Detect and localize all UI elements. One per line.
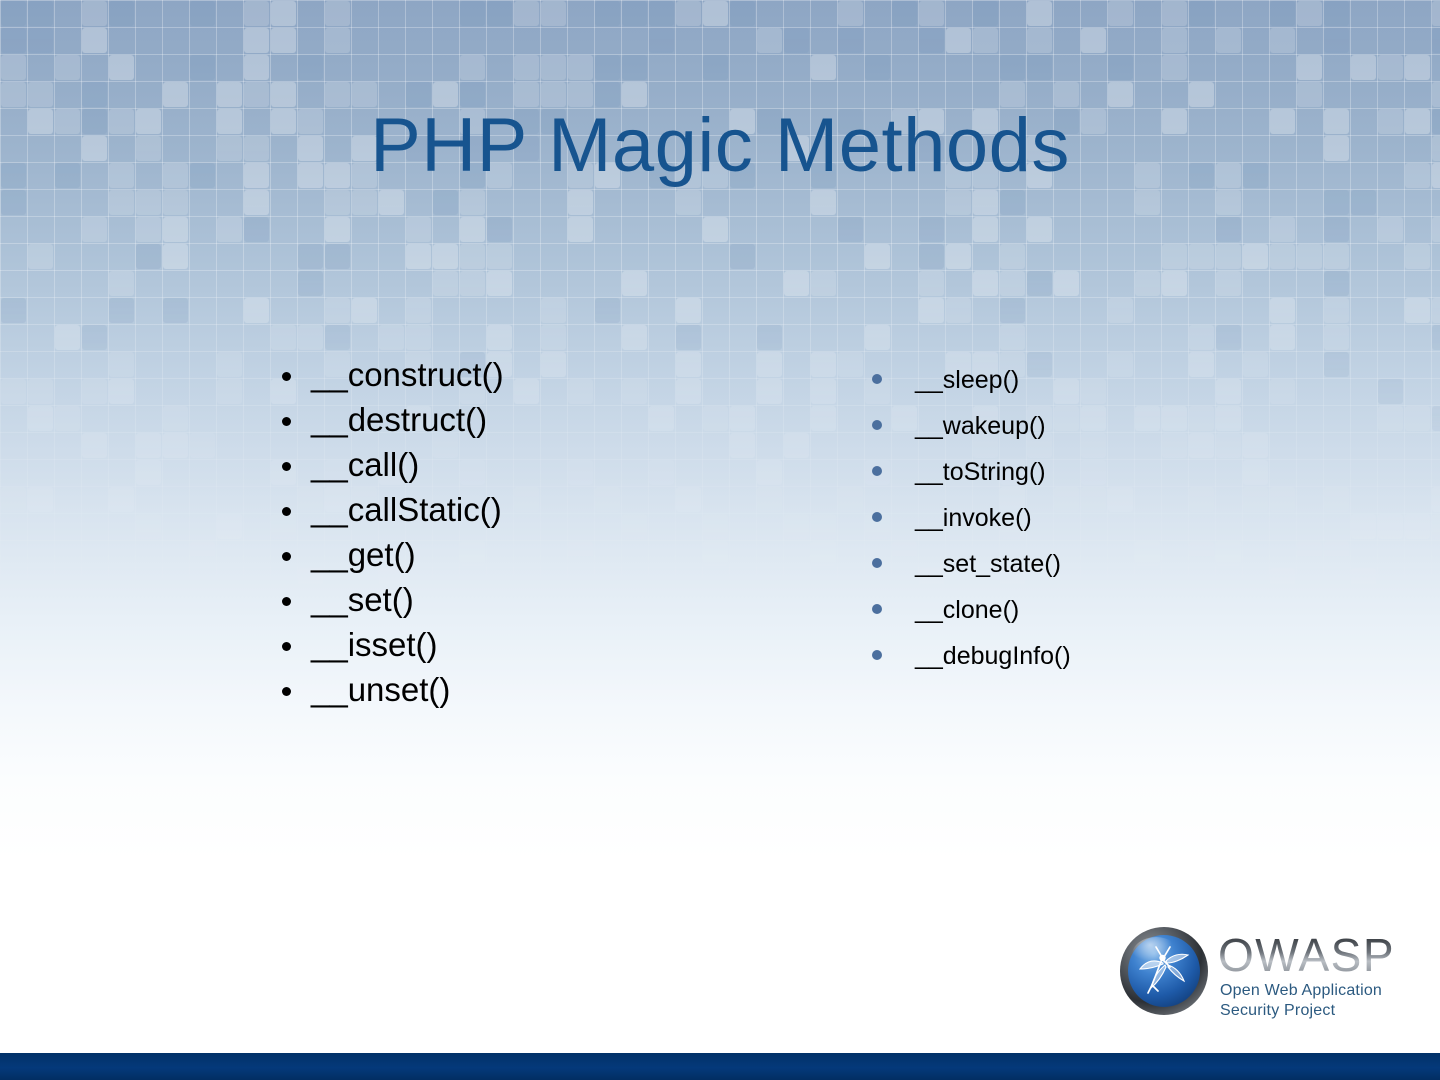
mosaic-tile	[1162, 271, 1187, 296]
mosaic-tile	[1297, 82, 1322, 107]
bullet-dot-icon	[872, 512, 882, 522]
mosaic-tile	[919, 1, 944, 26]
mosaic-tile	[1432, 568, 1440, 593]
mosaic-tile	[1000, 271, 1025, 296]
mosaic-tile	[811, 379, 836, 404]
mosaic-tile	[487, 217, 512, 242]
mosaic-tile	[1216, 28, 1241, 53]
mosaic-tile	[811, 352, 836, 377]
mosaic-tile	[433, 244, 458, 269]
bullet-dot-icon	[282, 507, 291, 516]
mosaic-tile	[163, 676, 188, 701]
mosaic-tile	[892, 1, 917, 26]
mosaic-tile	[1216, 271, 1241, 296]
mosaic-tile	[1270, 244, 1295, 269]
mosaic-tile	[1189, 1, 1214, 26]
mosaic-tile	[649, 28, 674, 53]
mosaic-tile	[568, 190, 593, 215]
mosaic-tile	[82, 379, 107, 404]
mosaic-tile	[1351, 55, 1376, 80]
mosaic-tile	[28, 1, 53, 26]
mosaic-tile	[1432, 622, 1440, 647]
mosaic-tile	[82, 82, 107, 107]
mosaic-tile	[1324, 1, 1349, 26]
magic-method-right-item: __clone()	[872, 598, 1332, 644]
mosaic-tile	[163, 190, 188, 215]
mosaic-tile	[1, 55, 26, 80]
mosaic-tile	[190, 433, 215, 458]
mosaic-tile	[487, 244, 512, 269]
magic-method-right-label: __toString()	[915, 460, 1046, 485]
mosaic-tile	[541, 1, 566, 26]
mosaic-tile	[865, 55, 890, 80]
mosaic-tile	[649, 1, 674, 26]
bullet-dot-icon	[282, 642, 291, 651]
mosaic-tile	[838, 649, 863, 674]
magic-method-left-item: __destruct()	[282, 403, 802, 448]
mosaic-tile	[28, 379, 53, 404]
mosaic-tile	[1162, 244, 1187, 269]
mosaic-tile	[838, 487, 863, 512]
mosaic-tile	[109, 487, 134, 512]
mosaic-tile	[433, 190, 458, 215]
mosaic-tile	[676, 190, 701, 215]
mosaic-tile	[1432, 217, 1440, 242]
mosaic-tile	[1405, 406, 1430, 431]
mosaic-tile	[28, 676, 53, 701]
mosaic-tile	[1405, 514, 1430, 539]
mosaic-tile	[1324, 298, 1349, 323]
bullet-dot-icon	[872, 374, 882, 384]
mosaic-tile	[1, 82, 26, 107]
magic-method-left-item: __isset()	[282, 628, 802, 673]
mosaic-tile	[28, 244, 53, 269]
mosaic-tile	[298, 325, 323, 350]
mosaic-tile	[28, 649, 53, 674]
mosaic-tile	[109, 1, 134, 26]
mosaic-tile	[1108, 298, 1133, 323]
mosaic-tile	[1000, 55, 1025, 80]
magic-method-left-label: __unset()	[311, 673, 450, 706]
mosaic-tile	[1432, 298, 1440, 323]
mosaic-tile	[28, 406, 53, 431]
mosaic-tile	[487, 325, 512, 350]
magic-method-right-label: __clone()	[915, 598, 1019, 623]
mosaic-tile	[82, 433, 107, 458]
bullet-list-right: __sleep()__wakeup()__toString()__invoke(…	[872, 368, 1332, 690]
mosaic-tile	[217, 514, 242, 539]
mosaic-tile	[1432, 487, 1440, 512]
mosaic-tile	[919, 244, 944, 269]
mosaic-tile	[811, 190, 836, 215]
mosaic-tile	[109, 271, 134, 296]
mosaic-tile	[406, 298, 431, 323]
magic-method-right-label: __sleep()	[915, 368, 1019, 393]
mosaic-tile	[1, 298, 26, 323]
mosaic-tile	[244, 82, 269, 107]
mosaic-tile	[946, 190, 971, 215]
magic-method-right-label: __invoke()	[915, 506, 1032, 531]
bullet-dot-icon	[282, 372, 291, 381]
mosaic-tile	[28, 82, 53, 107]
mosaic-tile	[1216, 325, 1241, 350]
mosaic-tile	[676, 298, 701, 323]
mosaic-tile	[703, 217, 728, 242]
mosaic-tile	[163, 406, 188, 431]
magic-method-right-label: __set_state()	[915, 552, 1061, 577]
mosaic-tile	[244, 298, 269, 323]
bullet-dot-icon	[872, 558, 882, 568]
mosaic-tile	[109, 298, 134, 323]
mosaic-tile	[1189, 82, 1214, 107]
mosaic-tile	[1027, 271, 1052, 296]
mosaic-tile	[1270, 217, 1295, 242]
mosaic-tile	[217, 379, 242, 404]
magic-method-left-label: __callStatic()	[311, 493, 502, 526]
mosaic-tile	[1378, 379, 1403, 404]
mosaic-tile	[1351, 190, 1376, 215]
mosaic-tile	[190, 1, 215, 26]
mosaic-tile	[1432, 82, 1440, 107]
mosaic-tile	[730, 244, 755, 269]
mosaic-tile	[1216, 190, 1241, 215]
mosaic-tile	[136, 190, 161, 215]
mosaic-tile	[379, 325, 404, 350]
mosaic-tile	[919, 298, 944, 323]
mosaic-tile	[82, 325, 107, 350]
mosaic-tile	[1351, 514, 1376, 539]
mosaic-tile	[325, 298, 350, 323]
mosaic-tile	[514, 1, 539, 26]
mosaic-tile	[1162, 55, 1187, 80]
bullet-list-left: __construct()__destruct()__call()__callS…	[282, 358, 802, 718]
mosaic-tile	[838, 28, 863, 53]
mosaic-tile	[298, 55, 323, 80]
mosaic-tile	[973, 190, 998, 215]
mosaic-tile	[1000, 244, 1025, 269]
mosaic-tile	[460, 244, 485, 269]
mosaic-tile	[1108, 55, 1133, 80]
bullet-dot-icon	[282, 597, 291, 606]
mosaic-tile	[271, 28, 296, 53]
mosaic-tile	[109, 352, 134, 377]
mosaic-tile	[973, 217, 998, 242]
mosaic-tile	[1270, 298, 1295, 323]
mosaic-tile	[82, 1, 107, 26]
owasp-tagline: Open Web Application Security Project	[1220, 981, 1382, 1020]
mosaic-tile	[1297, 55, 1322, 80]
mosaic-tile	[865, 244, 890, 269]
mosaic-tile	[568, 55, 593, 80]
magic-method-left-item: __unset()	[282, 673, 802, 718]
mosaic-tile	[1216, 217, 1241, 242]
mosaic-tile	[541, 55, 566, 80]
magic-method-right-item: __sleep()	[872, 368, 1332, 414]
mosaic-tile	[1, 379, 26, 404]
mosaic-tile	[136, 217, 161, 242]
mosaic-tile	[1324, 244, 1349, 269]
bullet-dot-icon	[282, 462, 291, 471]
mosaic-tile	[1189, 244, 1214, 269]
magic-method-right-item: __debugInfo()	[872, 644, 1332, 690]
owasp-logo: OWASP Open Web Application Security Proj…	[1118, 923, 1408, 1025]
owasp-wordmark-text: OWASP	[1218, 929, 1395, 981]
mosaic-tile	[838, 1, 863, 26]
mosaic-tile	[811, 271, 836, 296]
mosaic-tile	[217, 82, 242, 107]
mosaic-tile	[109, 379, 134, 404]
bullet-dot-icon	[872, 650, 882, 660]
mosaic-tile	[595, 298, 620, 323]
mosaic-tile	[298, 271, 323, 296]
mosaic-tile	[244, 217, 269, 242]
mosaic-tile	[244, 190, 269, 215]
mosaic-tile	[1270, 28, 1295, 53]
mosaic-tile	[136, 433, 161, 458]
mosaic-tile	[163, 298, 188, 323]
mosaic-tile	[1324, 271, 1349, 296]
mosaic-tile	[325, 244, 350, 269]
mosaic-tile	[406, 325, 431, 350]
mosaic-tile	[1432, 28, 1440, 53]
mosaic-tile	[1324, 190, 1349, 215]
mosaic-tile	[1432, 1, 1440, 26]
mosaic-tile	[1027, 1, 1052, 26]
magic-method-left-label: __call()	[311, 448, 419, 481]
mosaic-tile	[82, 217, 107, 242]
mosaic-tile	[1054, 271, 1079, 296]
mosaic-tile	[973, 28, 998, 53]
mosaic-tile	[217, 352, 242, 377]
mosaic-tile	[1297, 244, 1322, 269]
mosaic-tile	[595, 1, 620, 26]
owasp-wordmark: OWASP	[1218, 929, 1408, 981]
mosaic-tile	[1189, 325, 1214, 350]
magic-method-left-label: __destruct()	[311, 403, 487, 436]
magic-method-left-item: __get()	[282, 538, 802, 583]
mosaic-tile	[730, 1, 755, 26]
mosaic-tile	[1405, 55, 1430, 80]
magic-method-right-item: __invoke()	[872, 506, 1332, 552]
mosaic-tile	[1378, 217, 1403, 242]
mosaic-tile	[109, 55, 134, 80]
mosaic-tile	[919, 217, 944, 242]
mosaic-tile	[163, 244, 188, 269]
mosaic-tile	[460, 190, 485, 215]
mosaic-tile	[460, 217, 485, 242]
mosaic-tile	[163, 217, 188, 242]
mosaic-tile	[1027, 55, 1052, 80]
magic-method-left-label: __construct()	[311, 358, 504, 391]
mosaic-tile	[568, 217, 593, 242]
mosaic-tile	[487, 1, 512, 26]
mosaic-tile	[352, 190, 377, 215]
mosaic-tile	[271, 1, 296, 26]
magic-method-left-label: __isset()	[311, 628, 438, 661]
mosaic-tile	[163, 82, 188, 107]
bullet-dot-icon	[282, 417, 291, 426]
magic-method-left-item: __construct()	[282, 358, 802, 403]
mosaic-tile	[1, 1, 26, 26]
mosaic-tile	[919, 28, 944, 53]
mosaic-tile	[190, 55, 215, 80]
mosaic-tile	[379, 190, 404, 215]
mosaic-tile	[1297, 1, 1322, 26]
mosaic-tile	[811, 541, 836, 566]
mosaic-tile	[676, 325, 701, 350]
mosaic-tile	[1135, 271, 1160, 296]
magic-method-right-item: __set_state()	[872, 552, 1332, 598]
bullet-dot-icon	[282, 687, 291, 696]
mosaic-tile	[1027, 217, 1052, 242]
slide-canvas: PHP Magic Methods __construct()__destruc…	[0, 0, 1440, 1080]
mosaic-tile	[1027, 28, 1052, 53]
bullet-dot-icon	[872, 466, 882, 476]
mosaic-tile	[973, 1, 998, 26]
mosaic-tile	[1, 190, 26, 215]
mosaic-tile	[55, 55, 80, 80]
mosaic-tile	[946, 244, 971, 269]
mosaic-tile	[244, 55, 269, 80]
mosaic-tile	[82, 28, 107, 53]
mosaic-tile	[622, 1, 647, 26]
mosaic-tile	[1000, 190, 1025, 215]
mosaic-tile	[244, 28, 269, 53]
mosaic-tile	[1243, 244, 1268, 269]
mosaic-tile	[1270, 325, 1295, 350]
mosaic-tile	[298, 244, 323, 269]
mosaic-tile	[1, 28, 26, 53]
bullet-dot-icon	[872, 604, 882, 614]
mosaic-tile	[838, 352, 863, 377]
mosaic-tile	[703, 55, 728, 80]
mosaic-tile	[1405, 595, 1430, 620]
mosaic-tile	[136, 460, 161, 485]
magic-method-left-item: __callStatic()	[282, 493, 802, 538]
mosaic-tile	[325, 82, 350, 107]
mosaic-tile	[514, 55, 539, 80]
mosaic-tile	[55, 406, 80, 431]
mosaic-tile	[217, 217, 242, 242]
mosaic-tile	[163, 595, 188, 620]
mosaic-tile	[487, 271, 512, 296]
owasp-mosquito-sphere-icon	[1118, 925, 1210, 1017]
mosaic-tile	[136, 568, 161, 593]
mosaic-tile	[946, 28, 971, 53]
mosaic-tile	[55, 325, 80, 350]
mosaic-tile	[406, 217, 431, 242]
mosaic-tile	[541, 325, 566, 350]
mosaic-tile	[1000, 325, 1025, 350]
mosaic-tile	[1324, 217, 1349, 242]
magic-method-left-label: __set()	[311, 583, 414, 616]
mosaic-tile	[1405, 298, 1430, 323]
mosaic-tile	[325, 217, 350, 242]
mosaic-tile	[271, 82, 296, 107]
mosaic-tile	[1081, 28, 1106, 53]
mosaic-tile	[1108, 1, 1133, 26]
mosaic-tile	[325, 190, 350, 215]
mosaic-tile	[1351, 568, 1376, 593]
mosaic-tile	[811, 649, 836, 674]
mosaic-tile	[325, 28, 350, 53]
mosaic-tile	[325, 1, 350, 26]
mosaic-tile	[190, 541, 215, 566]
mosaic-tile	[811, 406, 836, 431]
mosaic-tile	[973, 271, 998, 296]
mosaic-tile	[406, 244, 431, 269]
mosaic-tile	[217, 649, 242, 674]
mosaic-tile	[1216, 244, 1241, 269]
mosaic-tile	[325, 325, 350, 350]
footer-bar	[0, 1053, 1440, 1080]
mosaic-tile	[838, 217, 863, 242]
magic-method-right-label: __debugInfo()	[915, 644, 1071, 669]
mosaic-tile	[1378, 55, 1403, 80]
magic-method-right-item: __toString()	[872, 460, 1332, 506]
mosaic-tile	[1162, 1, 1187, 26]
mosaic-tile	[1, 676, 26, 701]
mosaic-tile	[433, 271, 458, 296]
mosaic-tile	[460, 55, 485, 80]
slide-title: PHP Magic Methods	[0, 108, 1440, 184]
mosaic-tile	[1270, 1, 1295, 26]
mosaic-tile	[352, 298, 377, 323]
mosaic-tile	[136, 244, 161, 269]
mosaic-tile	[811, 514, 836, 539]
mosaic-tile	[163, 433, 188, 458]
magic-method-left-item: __set()	[282, 583, 802, 628]
mosaic-tile	[919, 271, 944, 296]
magic-method-left-label: __get()	[311, 538, 416, 571]
mosaic-tile	[1378, 514, 1403, 539]
mosaic-tile	[109, 190, 134, 215]
mosaic-tile	[460, 1, 485, 26]
mosaic-tile	[946, 298, 971, 323]
mosaic-tile	[1135, 190, 1160, 215]
mosaic-tile	[1432, 325, 1440, 350]
mosaic-tile	[1324, 28, 1349, 53]
mosaic-tile	[757, 28, 782, 53]
mosaic-tile	[595, 55, 620, 80]
mosaic-tile	[1162, 28, 1187, 53]
mosaic-tile	[1432, 514, 1440, 539]
mosaic-tile	[244, 1, 269, 26]
mosaic-tile	[622, 55, 647, 80]
mosaic-tile	[622, 325, 647, 350]
mosaic-tile	[1432, 406, 1440, 431]
mosaic-tile	[136, 514, 161, 539]
mosaic-tile	[784, 271, 809, 296]
mosaic-tile	[1324, 325, 1349, 350]
bullet-dot-icon	[872, 420, 882, 430]
mosaic-tile	[757, 325, 782, 350]
mosaic-tile	[541, 298, 566, 323]
mosaic-tile	[622, 271, 647, 296]
mosaic-tile	[244, 622, 269, 647]
mosaic-tile	[1, 487, 26, 512]
mosaic-tile	[811, 55, 836, 80]
mosaic-tile	[784, 28, 809, 53]
magic-method-right-item: __wakeup()	[872, 414, 1332, 460]
magic-method-left-item: __call()	[282, 448, 802, 493]
mosaic-tile	[460, 271, 485, 296]
mosaic-tile	[271, 325, 296, 350]
mosaic-tile	[676, 1, 701, 26]
magic-method-right-label: __wakeup()	[915, 414, 1046, 439]
bullet-dot-icon	[282, 552, 291, 561]
mosaic-tile	[865, 325, 890, 350]
